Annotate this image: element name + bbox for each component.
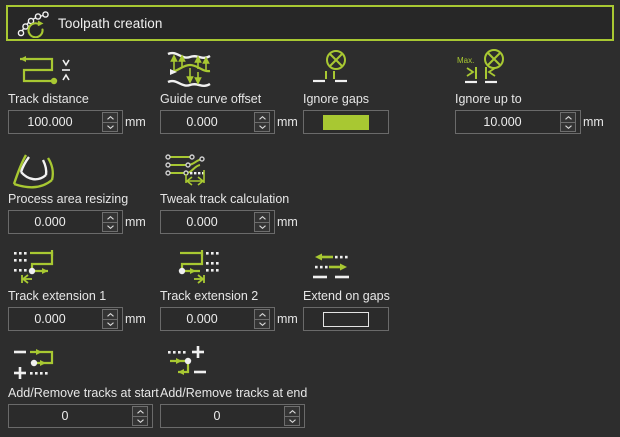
ignore-up-to-value[interactable]: 10.000 — [456, 111, 559, 133]
stepper-down-icon[interactable] — [102, 222, 118, 232]
control-process-area-resizing[interactable]: 0.000 mm — [8, 210, 146, 234]
stepper-up-icon[interactable] — [102, 309, 118, 319]
process-area-resizing-value[interactable]: 0.000 — [9, 211, 101, 233]
add-remove-tracks-at-start-spinbox[interactable]: 0 — [8, 404, 153, 428]
label-ignore-gaps: Ignore gaps — [303, 92, 389, 106]
add-remove-tracks-at-start-stepper[interactable] — [131, 405, 149, 427]
field-add-remove-tracks-at-start: Add/Remove tracks at start 0 — [8, 342, 159, 428]
stepper-up-icon[interactable] — [254, 112, 270, 122]
control-guide-curve-offset[interactable]: 0.000 mm — [160, 110, 298, 134]
guide-curve-offset-stepper[interactable] — [253, 111, 271, 133]
guide-curve-offset-icon — [160, 48, 298, 90]
control-tweak-track-calculation[interactable]: 0.000 mm — [160, 210, 298, 234]
tweak-track-calculation-unit: mm — [277, 215, 298, 229]
field-ignore-gaps: Ignore gaps — [303, 48, 389, 134]
add-remove-tracks-at-start-value[interactable]: 0 — [9, 405, 131, 427]
field-tweak-track-calculation: Tweak track calculation 0.000 mm — [160, 148, 298, 234]
field-guide-curve-offset: Guide curve offset 0.000 mm — [160, 48, 298, 134]
tweak-track-calculation-value[interactable]: 0.000 — [161, 211, 253, 233]
add-remove-tracks-at-start-icon — [8, 342, 159, 384]
track-distance-stepper[interactable] — [101, 111, 119, 133]
track-extension-1-stepper[interactable] — [101, 308, 119, 330]
field-row-4: Add/Remove tracks at start 0 — [0, 342, 620, 437]
extend-on-gaps-checkbox[interactable] — [303, 307, 389, 331]
track-extension-1-unit: mm — [125, 312, 146, 326]
stepper-up-icon[interactable] — [560, 112, 576, 122]
stepper-down-icon[interactable] — [102, 122, 118, 132]
track-extension-2-value[interactable]: 0.000 — [161, 308, 253, 330]
ignore-up-to-stepper[interactable] — [559, 111, 577, 133]
stepper-up-icon[interactable] — [102, 112, 118, 122]
panel-header: Toolpath creation — [6, 5, 614, 41]
field-row-3: Track extension 1 0.000 mm — [0, 245, 620, 340]
stepper-down-icon[interactable] — [254, 319, 270, 329]
control-add-remove-tracks-at-end[interactable]: 0 — [160, 404, 307, 428]
track-distance-value[interactable]: 100.000 — [9, 111, 101, 133]
stepper-up-icon[interactable] — [254, 212, 270, 222]
field-add-remove-tracks-at-end: Add/Remove tracks at end 0 — [160, 342, 307, 428]
label-track-extension-2: Track extension 2 — [160, 289, 298, 303]
stepper-down-icon[interactable] — [254, 222, 270, 232]
label-process-area-resizing: Process area resizing — [8, 192, 146, 206]
ignore-up-to-unit: mm — [583, 115, 604, 129]
label-ignore-up-to: Ignore up to — [455, 92, 604, 106]
label-track-distance: Track distance — [8, 92, 146, 106]
toolpath-creation-icon — [16, 8, 50, 38]
tweak-track-calculation-stepper[interactable] — [253, 211, 271, 233]
stepper-up-icon[interactable] — [254, 309, 270, 319]
label-tweak-track-calculation: Tweak track calculation — [160, 192, 298, 206]
guide-curve-offset-spinbox[interactable]: 0.000 — [160, 110, 275, 134]
track-distance-unit: mm — [125, 115, 146, 129]
stepper-up-icon[interactable] — [132, 406, 148, 416]
serpentine-track-distance-icon — [8, 48, 146, 90]
label-add-remove-tracks-at-start: Add/Remove tracks at start — [8, 386, 159, 400]
control-track-extension-1[interactable]: 0.000 mm — [8, 307, 146, 331]
control-track-distance[interactable]: 100.000 mm — [8, 110, 146, 134]
field-ignore-up-to: Max. Ignore up to 10.000 — [455, 48, 604, 134]
field-track-extension-1: Track extension 1 0.000 mm — [8, 245, 146, 331]
stepper-down-icon[interactable] — [254, 122, 270, 132]
stepper-down-icon[interactable] — [560, 122, 576, 132]
process-area-resizing-icon — [8, 148, 146, 190]
field-track-distance: Track distance 100.000 mm — [8, 48, 146, 134]
stepper-up-icon[interactable] — [102, 212, 118, 222]
label-guide-curve-offset: Guide curve offset — [160, 92, 298, 106]
stepper-down-icon[interactable] — [102, 319, 118, 329]
ignore-up-to-max-icon: Max. — [455, 48, 604, 90]
field-extend-on-gaps: Extend on gaps — [303, 245, 390, 331]
stepper-down-icon[interactable] — [284, 416, 300, 426]
stepper-down-icon[interactable] — [132, 416, 148, 426]
track-distance-spinbox[interactable]: 100.000 — [8, 110, 123, 134]
ignore-gaps-checkbox[interactable] — [303, 110, 389, 134]
ignore-gaps-icon — [303, 48, 389, 90]
panel-title: Toolpath creation — [58, 16, 163, 31]
label-track-extension-1: Track extension 1 — [8, 289, 146, 303]
field-row-1: Track distance 100.000 mm — [0, 48, 620, 143]
svg-text:Max.: Max. — [457, 56, 474, 65]
track-extension-2-spinbox[interactable]: 0.000 — [160, 307, 275, 331]
track-extension-1-value[interactable]: 0.000 — [9, 308, 101, 330]
control-ignore-up-to[interactable]: 10.000 mm — [455, 110, 604, 134]
process-area-resizing-stepper[interactable] — [101, 211, 119, 233]
stepper-up-icon[interactable] — [284, 406, 300, 416]
field-process-area-resizing: Process area resizing 0.000 mm — [8, 148, 146, 234]
field-track-extension-2: Track extension 2 0.000 mm — [160, 245, 298, 331]
label-add-remove-tracks-at-end: Add/Remove tracks at end — [160, 386, 307, 400]
track-extension-1-spinbox[interactable]: 0.000 — [8, 307, 123, 331]
track-extension-1-icon — [8, 245, 146, 287]
control-track-extension-2[interactable]: 0.000 mm — [160, 307, 298, 331]
process-area-resizing-unit: mm — [125, 215, 146, 229]
add-remove-tracks-at-end-value[interactable]: 0 — [161, 405, 283, 427]
add-remove-tracks-at-end-icon — [160, 342, 307, 384]
control-add-remove-tracks-at-start[interactable]: 0 — [8, 404, 159, 428]
extend-on-gaps-icon — [303, 245, 390, 287]
ignore-gaps-checkbox-state[interactable] — [323, 115, 369, 130]
label-extend-on-gaps: Extend on gaps — [303, 289, 390, 303]
add-remove-tracks-at-end-stepper[interactable] — [283, 405, 301, 427]
tweak-track-calculation-icon — [160, 148, 298, 190]
extend-on-gaps-checkbox-state[interactable] — [323, 312, 369, 327]
field-row-2: Process area resizing 0.000 mm — [0, 148, 620, 243]
process-area-resizing-spinbox[interactable]: 0.000 — [8, 210, 123, 234]
track-extension-2-unit: mm — [277, 312, 298, 326]
guide-curve-offset-value[interactable]: 0.000 — [161, 111, 253, 133]
track-extension-2-icon — [160, 245, 298, 287]
ignore-up-to-spinbox[interactable]: 10.000 — [455, 110, 581, 134]
tweak-track-calculation-spinbox[interactable]: 0.000 — [160, 210, 275, 234]
track-extension-2-stepper[interactable] — [253, 308, 271, 330]
guide-curve-offset-unit: mm — [277, 115, 298, 129]
add-remove-tracks-at-end-spinbox[interactable]: 0 — [160, 404, 305, 428]
